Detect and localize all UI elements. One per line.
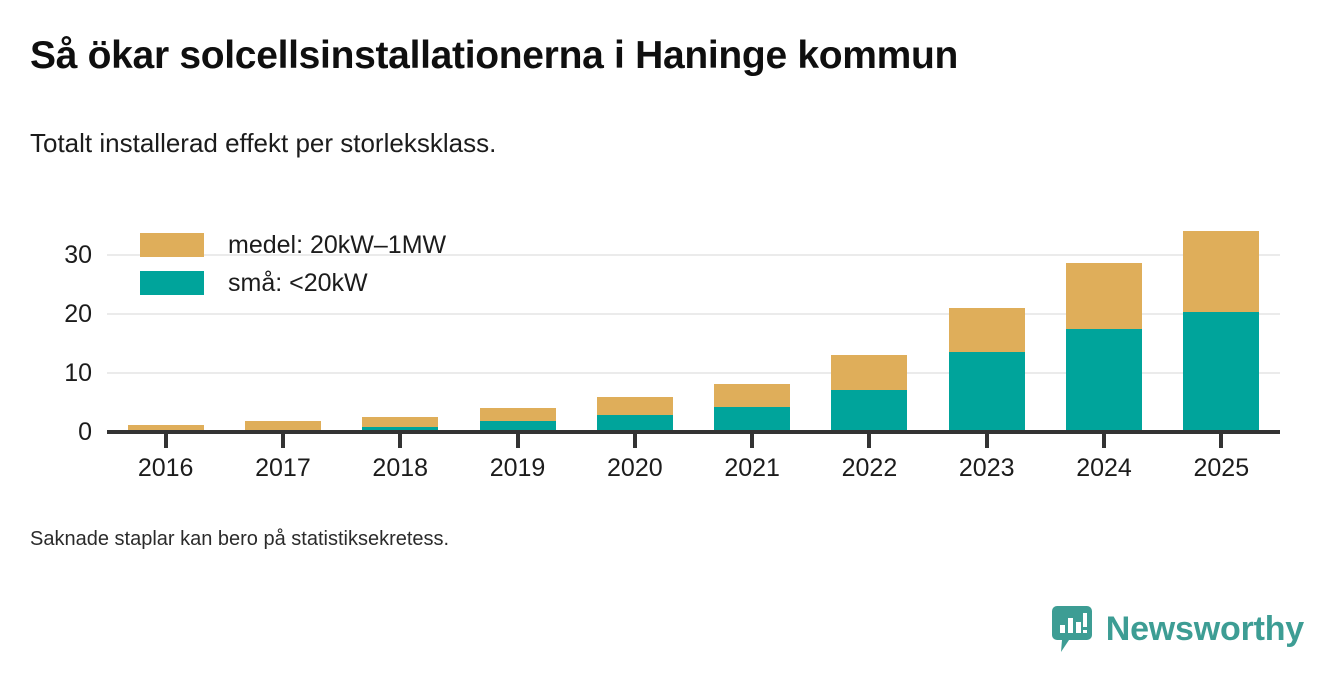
x-axis-tick: 2021 (693, 434, 810, 494)
bar-segment-medel[interactable] (831, 355, 907, 390)
bar-slot (693, 200, 810, 432)
bar-chart-bubble-icon (1052, 606, 1092, 652)
x-axis-tick-label: 2024 (1045, 454, 1162, 483)
x-axis-tick: 2016 (107, 434, 224, 494)
y-axis-tick-label: 30 (30, 243, 92, 268)
x-axis-tick-mark (1102, 434, 1106, 448)
x-axis-tick-label: 2021 (693, 454, 810, 483)
bar-segment-medel[interactable] (480, 408, 556, 420)
bar-segment-medel[interactable] (245, 421, 321, 430)
stacked-bar[interactable] (480, 408, 556, 432)
logo-text: Newsworthy (1106, 612, 1304, 646)
x-axis-tick: 2023 (928, 434, 1045, 494)
x-axis-tick-mark (867, 434, 871, 448)
legend-item-sma: små: <20kW (140, 264, 446, 302)
chart-footnote: Saknade staplar kan bero på statistiksek… (30, 528, 449, 551)
x-axis-tick-label: 2022 (811, 454, 928, 483)
bar-segment-sma[interactable] (831, 390, 907, 432)
legend-label-medel: medel: 20kW–1MW (228, 231, 446, 260)
legend-label-sma: små: <20kW (228, 269, 368, 298)
bar-segment-sma[interactable] (1183, 312, 1259, 432)
stacked-bar[interactable] (1183, 231, 1259, 432)
bar-slot (928, 200, 1045, 432)
stacked-bar[interactable] (597, 397, 673, 432)
x-axis-tick-mark (750, 434, 754, 448)
bar-segment-medel[interactable] (714, 384, 790, 407)
x-axis-tick-label: 2020 (576, 454, 693, 483)
x-axis-tick-label: 2018 (342, 454, 459, 483)
y-axis-tick-label: 0 (30, 420, 92, 445)
bar-slot (459, 200, 576, 432)
bar-segment-sma[interactable] (714, 407, 790, 432)
bar-segment-medel[interactable] (949, 308, 1025, 352)
x-axis-tick-mark (985, 434, 989, 448)
x-axis-tick-label: 2023 (928, 454, 1045, 483)
bar-segment-sma[interactable] (1066, 329, 1142, 432)
x-axis-tick-mark (281, 434, 285, 448)
bar-slot (1163, 200, 1280, 432)
chart-subtitle: Totalt installerad effekt per storlekskl… (30, 128, 496, 159)
stacked-bar[interactable] (714, 384, 790, 432)
chart-legend: medel: 20kW–1MW små: <20kW (140, 226, 446, 302)
x-axis-tick: 2022 (811, 434, 928, 494)
stacked-bar[interactable] (949, 308, 1025, 432)
bar-slot (811, 200, 928, 432)
stacked-bar[interactable] (1066, 263, 1142, 432)
legend-swatch-sma (140, 271, 204, 295)
x-axis-tick-label: 2017 (224, 454, 341, 483)
newsworthy-logo: Newsworthy (1052, 606, 1304, 652)
bar-segment-medel[interactable] (1066, 263, 1142, 328)
stacked-bar[interactable] (831, 355, 907, 432)
x-axis-tick: 2025 (1163, 434, 1280, 494)
bar-segment-sma[interactable] (949, 352, 1025, 432)
x-axis-tick-mark (164, 434, 168, 448)
x-axis-tick: 2020 (576, 434, 693, 494)
x-axis-tick: 2018 (342, 434, 459, 494)
legend-item-medel: medel: 20kW–1MW (140, 226, 446, 264)
y-axis-tick-label: 20 (30, 302, 92, 327)
x-axis-tick-mark (633, 434, 637, 448)
x-axis-tick-label: 2019 (459, 454, 576, 483)
x-axis-tick-label: 2016 (107, 454, 224, 483)
page-title: Så ökar solcellsinstallationerna i Hanin… (30, 34, 958, 78)
x-axis-tick-mark (1219, 434, 1223, 448)
chart-page: Så ökar solcellsinstallationerna i Hanin… (0, 0, 1340, 685)
bar-slot (1045, 200, 1162, 432)
plot-area: 30 20 10 0 medel: 20kW–1MW små: <20kW 20… (0, 200, 1340, 500)
x-axis-tick: 2017 (224, 434, 341, 494)
x-axis-tick-mark (398, 434, 402, 448)
x-axis-tick: 2024 (1045, 434, 1162, 494)
y-axis-tick-label: 10 (30, 361, 92, 386)
x-axis-tick-label: 2025 (1163, 454, 1280, 483)
legend-swatch-medel (140, 233, 204, 257)
x-axis-tick: 2019 (459, 434, 576, 494)
bar-segment-medel[interactable] (597, 397, 673, 415)
x-axis-tick-mark (516, 434, 520, 448)
bar-segment-medel[interactable] (362, 417, 438, 428)
bar-segment-medel[interactable] (1183, 231, 1259, 311)
bar-slot (576, 200, 693, 432)
x-axis: 2016201720182019202020212022202320242025 (107, 434, 1280, 494)
